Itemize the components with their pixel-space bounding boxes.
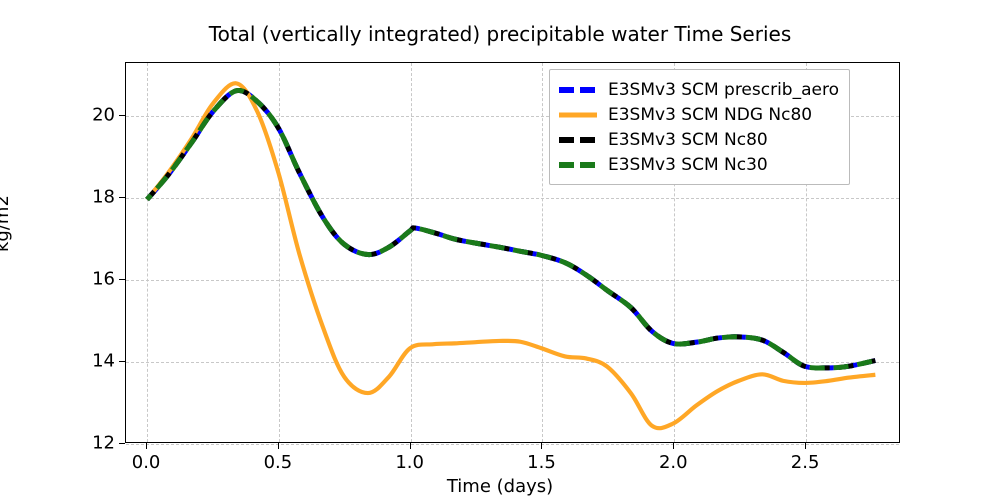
x-axis-label: Time (days) — [0, 476, 1000, 497]
x-tick-mark — [278, 443, 279, 449]
legend-item: E3SMv3 SCM Nc80 — [558, 127, 839, 152]
legend-item: E3SMv3 SCM NDG Nc80 — [558, 102, 839, 127]
x-tick-label: 2.5 — [770, 452, 840, 473]
legend-swatch-icon — [558, 107, 598, 123]
gridline-horizontal — [126, 444, 899, 445]
legend-swatch-icon — [558, 157, 598, 173]
y-tick-label: 16 — [69, 269, 115, 290]
x-tick-label: 0.5 — [243, 452, 313, 473]
y-tick-label: 12 — [69, 433, 115, 454]
chart-legend: E3SMv3 SCM prescrib_aeroE3SMv3 SCM NDG N… — [549, 69, 850, 185]
y-tick-label: 18 — [69, 187, 115, 208]
chart-title: Total (vertically integrated) precipitab… — [0, 22, 1000, 46]
legend-item: E3SMv3 SCM prescrib_aero — [558, 77, 839, 102]
legend-label: E3SMv3 SCM Nc80 — [608, 130, 768, 150]
x-tick-mark — [673, 443, 674, 449]
y-tick-mark — [119, 361, 125, 362]
y-tick-mark — [119, 197, 125, 198]
x-tick-mark — [541, 443, 542, 449]
x-tick-label: 1.0 — [375, 452, 445, 473]
legend-item: E3SMv3 SCM Nc30 — [558, 152, 839, 177]
legend-label: E3SMv3 SCM prescrib_aero — [608, 80, 839, 100]
y-tick-mark — [119, 115, 125, 116]
chart-figure: Total (vertically integrated) precipitab… — [0, 0, 1000, 500]
x-tick-mark — [805, 443, 806, 449]
legend-swatch-icon — [558, 132, 598, 148]
y-tick-mark — [119, 279, 125, 280]
legend-swatch-icon — [558, 82, 598, 98]
y-tick-label: 14 — [69, 351, 115, 372]
x-tick-label: 0.0 — [111, 452, 181, 473]
y-axis-label: kg/m2 — [0, 195, 13, 252]
x-tick-label: 2.0 — [638, 452, 708, 473]
y-tick-mark — [119, 443, 125, 444]
y-tick-label: 20 — [69, 105, 115, 126]
x-tick-mark — [146, 443, 147, 449]
x-tick-mark — [410, 443, 411, 449]
x-tick-label: 1.5 — [506, 452, 576, 473]
legend-label: E3SMv3 SCM Nc30 — [608, 155, 768, 175]
legend-label: E3SMv3 SCM NDG Nc80 — [608, 105, 812, 125]
